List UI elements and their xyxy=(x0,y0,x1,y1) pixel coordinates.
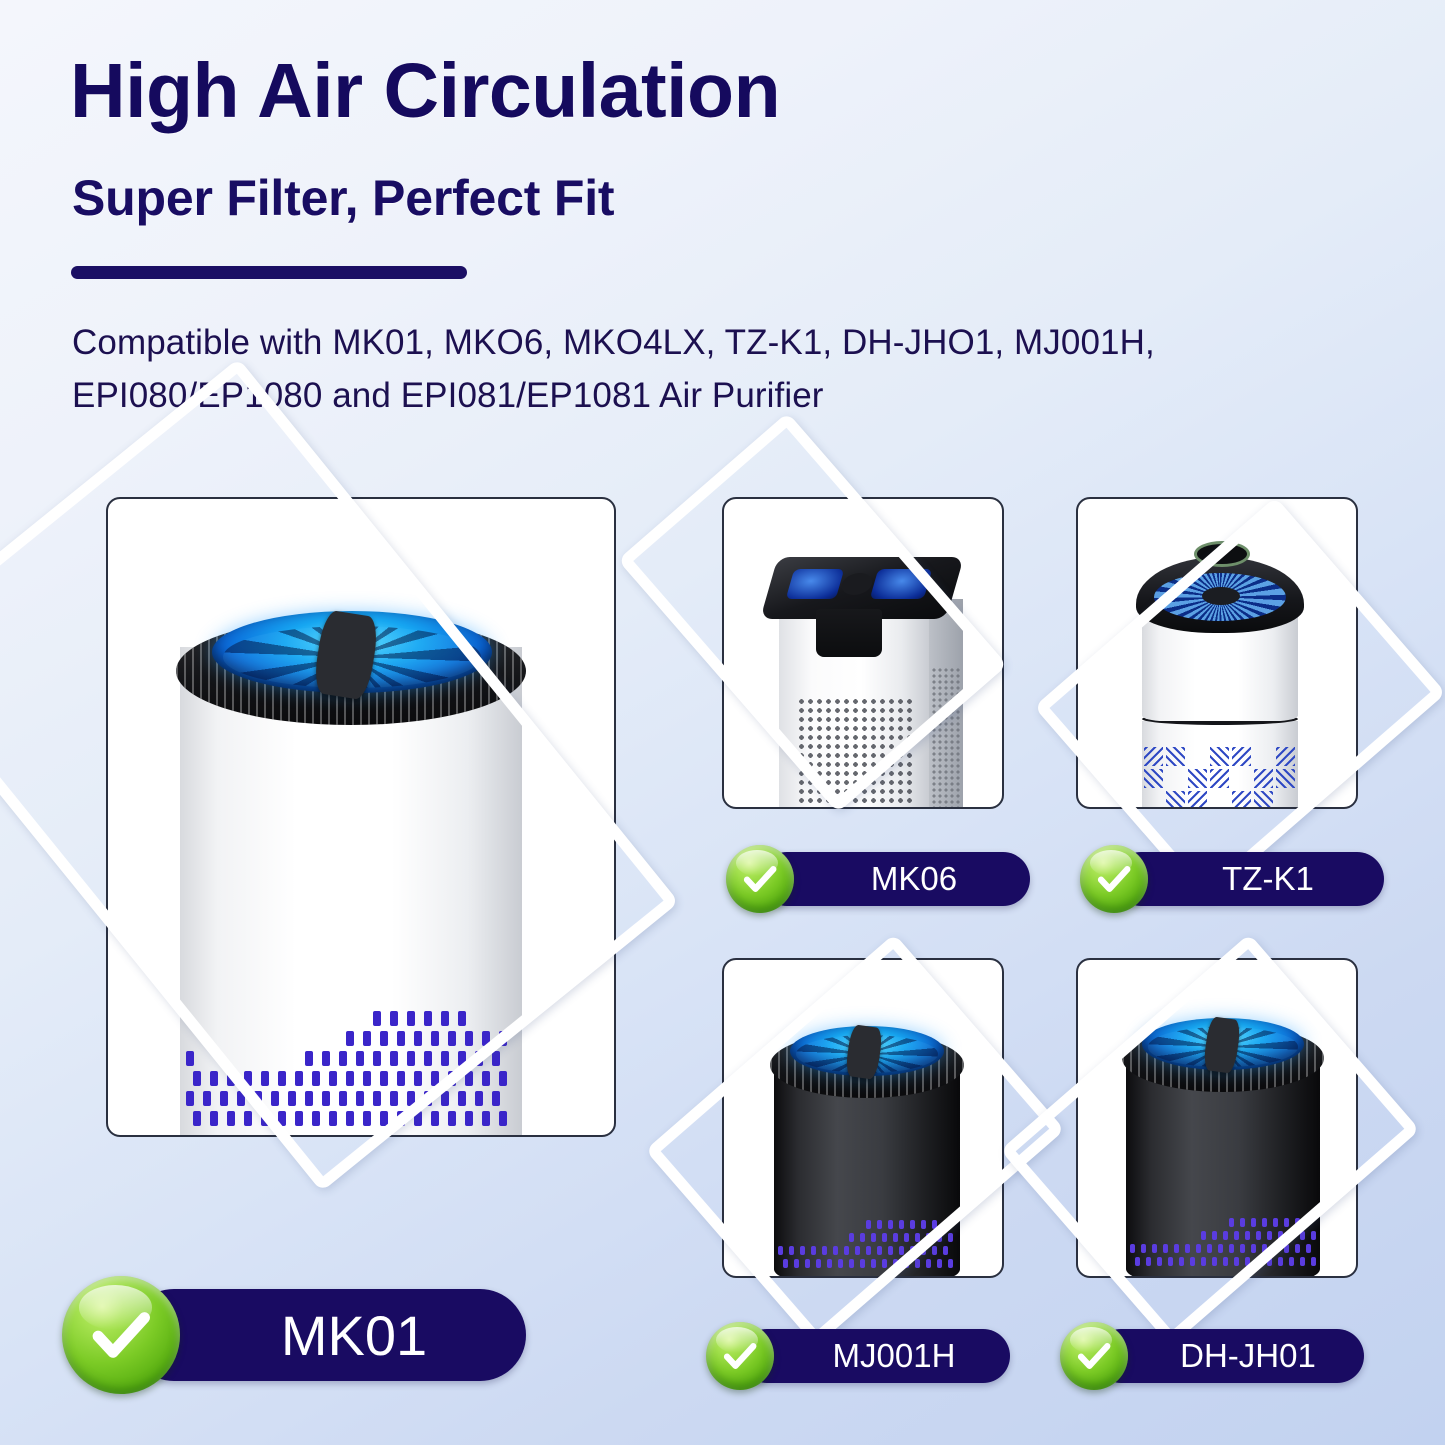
tzk1-hatch-band xyxy=(1144,747,1296,809)
compat-badge-mk06[interactable]: MK06 xyxy=(726,845,1030,913)
check-circle-icon xyxy=(1080,845,1148,913)
product-image-card-mk06 xyxy=(722,497,1004,809)
compat-badge-dhjh01[interactable]: DH-JH01 xyxy=(1060,1322,1364,1390)
dhjh01-vent-field xyxy=(1130,1218,1318,1278)
tzk1-fan-hub xyxy=(1202,587,1240,605)
compatibility-line-2: EPI080/EP1080 and EPI081/EP1081 Air Puri… xyxy=(72,369,1372,422)
mj001h-vent-field xyxy=(778,1220,958,1278)
mk06-handle-recess xyxy=(816,609,882,657)
mk06-front-mesh xyxy=(797,697,915,809)
product-image-card-tzk1 xyxy=(1076,497,1358,809)
tzk1-nozzle xyxy=(1194,541,1250,567)
compat-badge-label-tzk1: TZ-K1 xyxy=(1114,852,1384,906)
mk01-vent-field xyxy=(186,1011,516,1137)
product-image-card-mk01 xyxy=(106,497,616,1137)
compat-badge-tzk1[interactable]: TZ-K1 xyxy=(1080,845,1384,913)
check-circle-icon xyxy=(1060,1322,1128,1390)
compat-badge-label-mk01: MK01 xyxy=(128,1289,526,1381)
compatibility-text: Compatible with MK01, MKO6, MKO4LX, TZ-K… xyxy=(72,316,1372,422)
compat-badge-label-dhjh01: DH-JH01 xyxy=(1094,1329,1364,1383)
mk06-fan-glow-right xyxy=(870,569,933,599)
page-subtitle: Super Filter, Perfect Fit xyxy=(72,172,614,225)
check-circle-icon xyxy=(62,1276,180,1394)
page-title: High Air Circulation xyxy=(70,52,780,131)
check-circle-icon xyxy=(706,1322,774,1390)
mk06-fan-glow-left xyxy=(786,569,845,599)
product-image-card-mj001h xyxy=(722,958,1004,1278)
compat-badge-label-mj001h: MJ001H xyxy=(740,1329,1010,1383)
mk06-side-mesh xyxy=(931,667,961,809)
product-image-card-dhjh01 xyxy=(1076,958,1358,1278)
infographic-page: High Air Circulation Super Filter, Perfe… xyxy=(0,0,1445,1445)
compatibility-line-1: Compatible with MK01, MKO6, MKO4LX, TZ-K… xyxy=(72,316,1372,369)
compat-badge-mk01[interactable]: MK01 xyxy=(62,1276,526,1394)
title-divider xyxy=(71,266,467,279)
compat-badge-mj001h[interactable]: MJ001H xyxy=(706,1322,1010,1390)
check-circle-icon xyxy=(726,845,794,913)
compat-badge-label-mk06: MK06 xyxy=(760,852,1030,906)
